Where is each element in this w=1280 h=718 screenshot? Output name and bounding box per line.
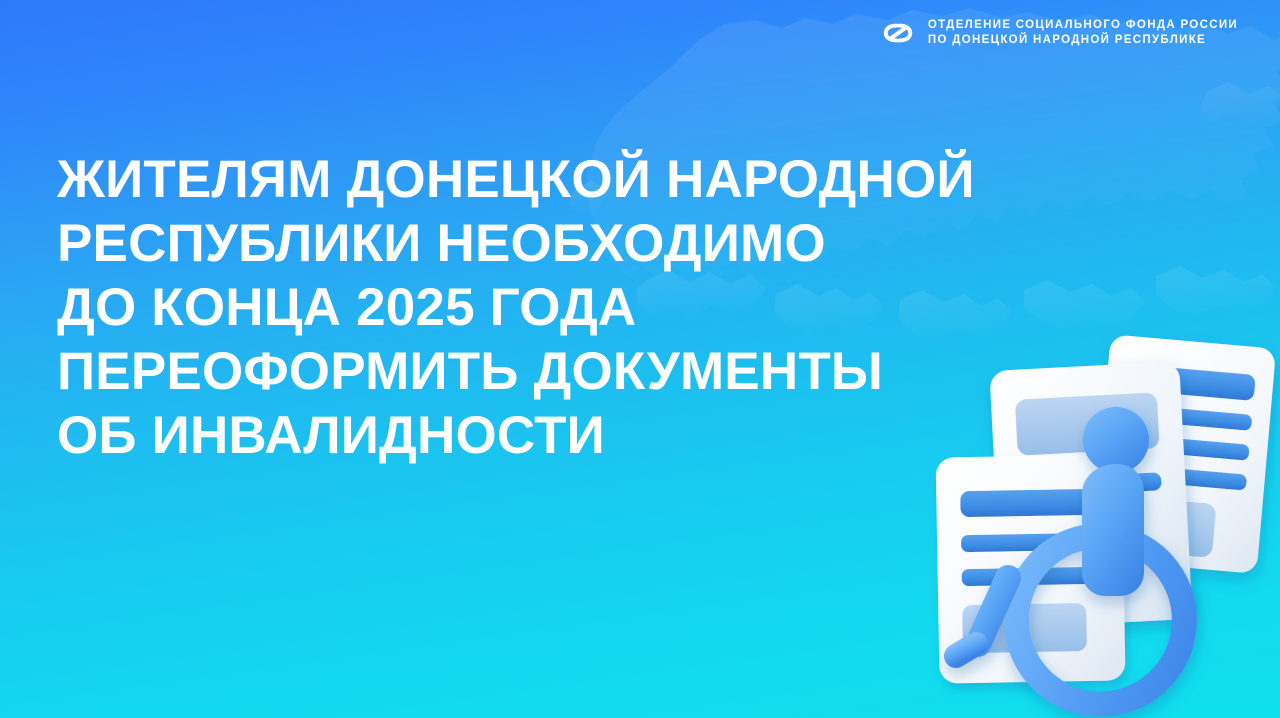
sfr-monogram-icon	[881, 16, 915, 50]
headline-line-2: РЕСПУБЛИКИ НЕОБХОДИМО	[57, 212, 987, 276]
brand-line-2: ПО ДОНЕЦКОЙ НАРОДНОЙ РЕСПУБЛИКЕ	[928, 34, 1238, 47]
banner-canvas: ОТДЕЛЕНИЕ СОЦИАЛЬНОГО ФОНДА РОССИИ ПО ДО…	[0, 0, 1280, 718]
brand-text-block: ОТДЕЛЕНИЕ СОЦИАЛЬНОГО ФОНДА РОССИИ ПО ДО…	[928, 19, 1238, 47]
headline-line-3: ДО КОНЦА 2025 ГОДА	[57, 276, 987, 340]
headline-block: ЖИТЕЛЯМ ДОНЕЦКОЙ НАРОДНОЙ РЕСПУБЛИКИ НЕО…	[57, 148, 987, 468]
brand-line-1: ОТДЕЛЕНИЕ СОЦИАЛЬНОГО ФОНДА РОССИИ	[928, 19, 1238, 32]
brand-lockup: ОТДЕЛЕНИЕ СОЦИАЛЬНОГО ФОНДА РОССИИ ПО ДО…	[881, 16, 1238, 50]
headline-line-5: ОБ ИНВАЛИДНОСТИ	[57, 404, 987, 468]
headline-line-4: ПЕРЕОФОРМИТЬ ДОКУМЕНТЫ	[57, 340, 987, 404]
headline-line-1: ЖИТЕЛЯМ ДОНЕЦКОЙ НАРОДНОЙ	[57, 148, 987, 212]
